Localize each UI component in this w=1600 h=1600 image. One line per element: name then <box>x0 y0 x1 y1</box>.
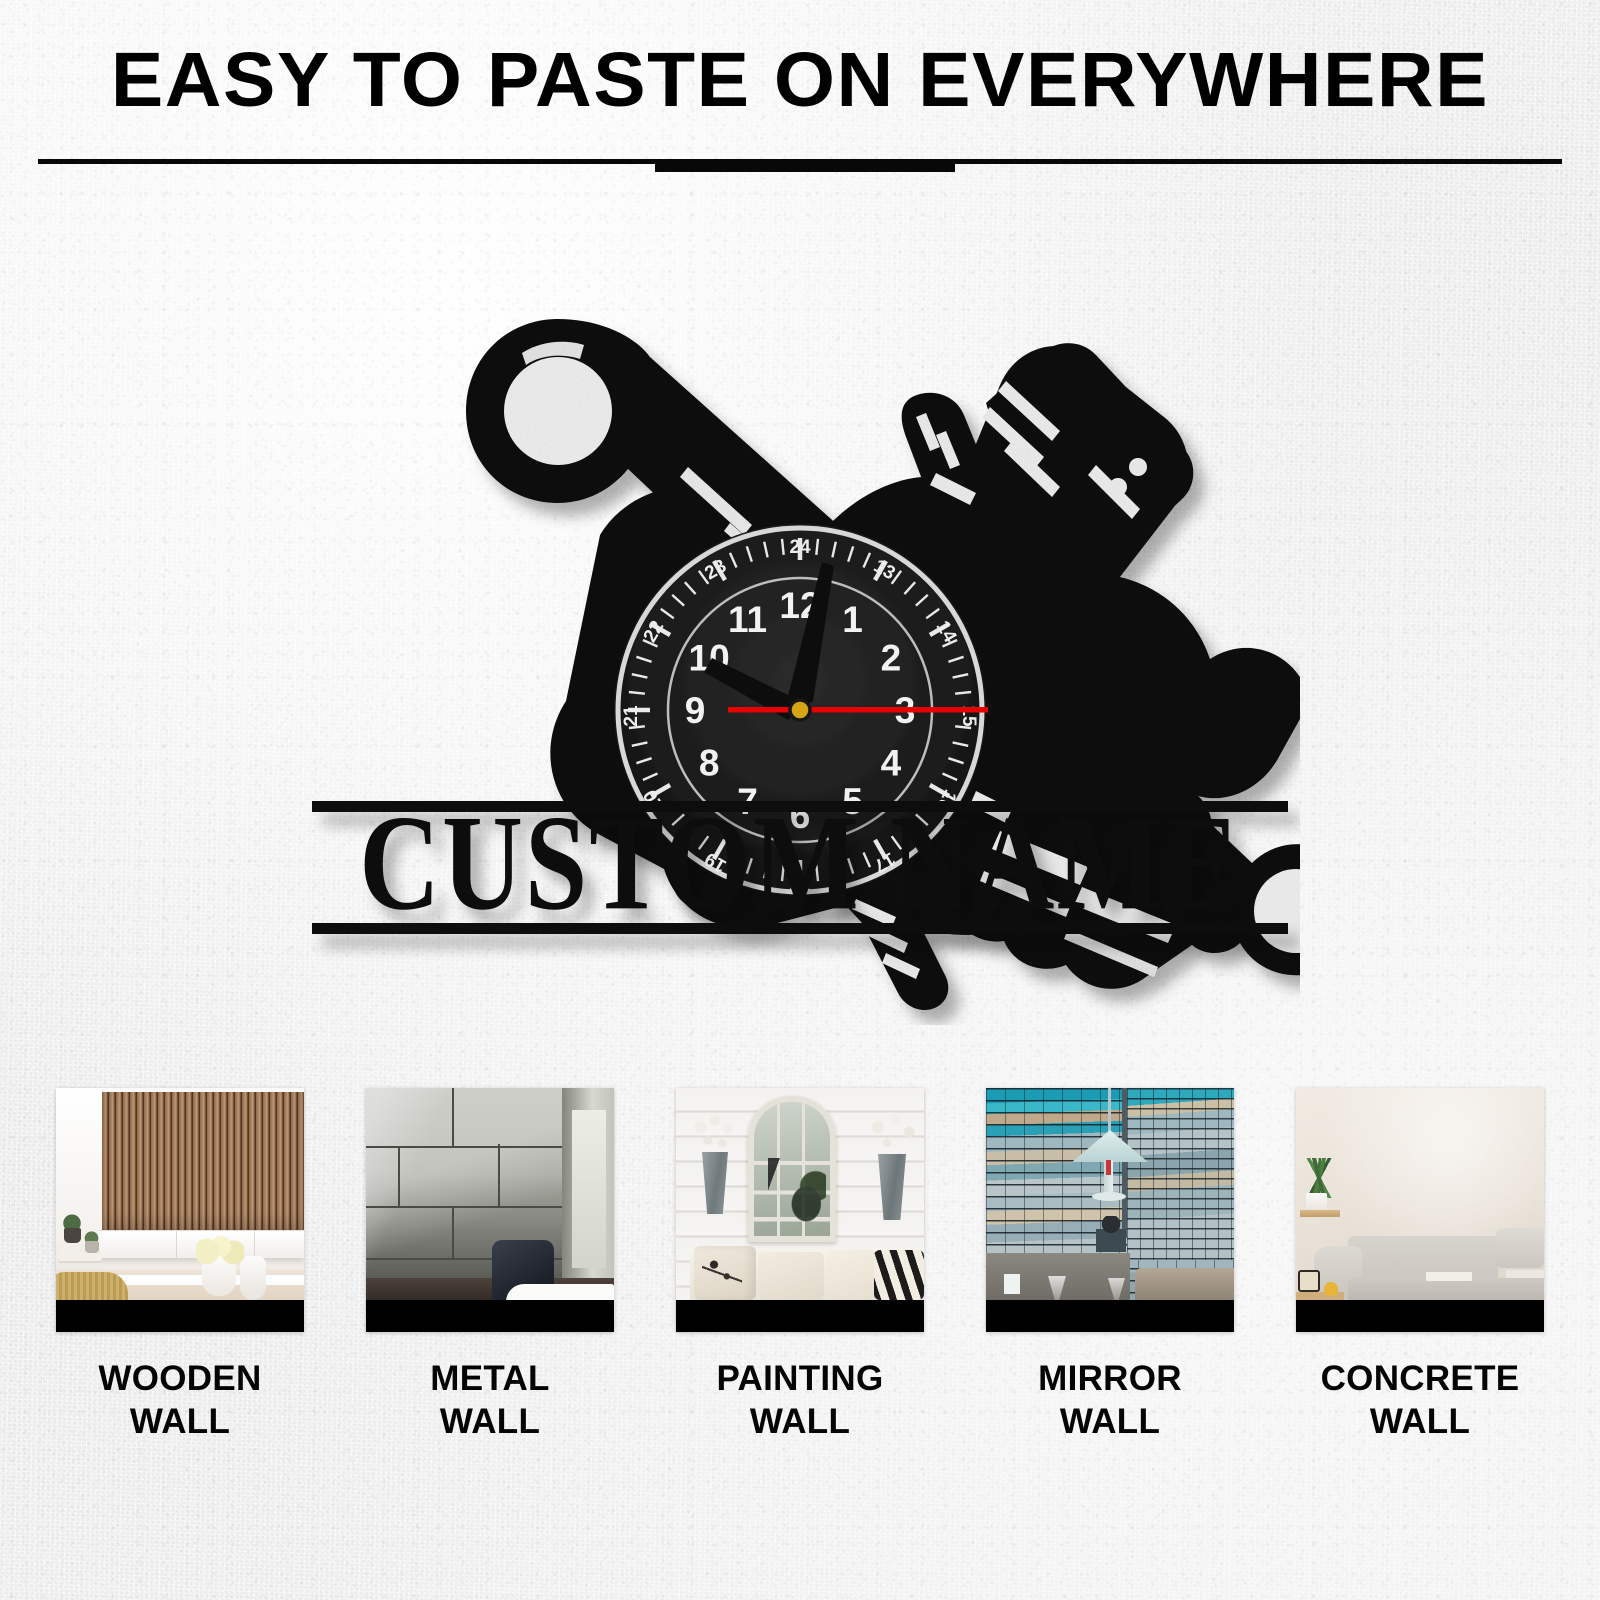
custom-name-text: CUSTOM NAME <box>359 788 1241 939</box>
surface-label-painting-wall: PAINTING WALL <box>716 1358 883 1443</box>
thumbnail-base-strip <box>366 1300 614 1332</box>
surface-label-line2: WALL <box>98 1401 261 1444</box>
clock-numeral-1: 1 <box>842 599 863 640</box>
thumbnail-image-mirror-wall <box>986 1088 1234 1300</box>
thumbnail-frame-wooden-wall[interactable] <box>56 1088 304 1332</box>
surface-types-row: WOODEN WALL METAL WALL <box>0 1088 1600 1443</box>
divider-accent-bar <box>655 159 955 172</box>
surface-item-mirror-wall[interactable]: MIRROR WALL <box>986 1088 1234 1443</box>
surface-label-mirror-wall: MIRROR WALL <box>1038 1358 1182 1443</box>
surface-label-line2: WALL <box>1038 1401 1182 1444</box>
clock-24h-numeral-21: 21 <box>621 705 642 727</box>
surface-label-line2: WALL <box>716 1401 883 1444</box>
thumbnail-frame-concrete-wall[interactable] <box>1296 1088 1544 1332</box>
thumbnail-frame-mirror-wall[interactable] <box>986 1088 1234 1332</box>
surface-label-wooden-wall: WOODEN WALL <box>98 1358 261 1443</box>
thumbnail-base-strip <box>56 1300 304 1332</box>
surface-label-line1: PAINTING <box>716 1358 883 1401</box>
clock-24h-numeral-24: 24 <box>789 537 811 558</box>
metal-wall-art-silhouette: 123456789101112 131415161718192021222324… <box>300 235 1300 1025</box>
header-divider <box>0 153 1600 171</box>
thumbnail-base-strip <box>676 1300 924 1332</box>
clock-numeral-9: 9 <box>685 690 706 731</box>
surface-label-line1: MIRROR <box>1038 1358 1182 1401</box>
thumbnail-image-wooden-wall <box>56 1088 304 1300</box>
thumbnail-base-strip <box>986 1300 1234 1332</box>
thumbnail-frame-metal-wall[interactable] <box>366 1088 614 1332</box>
page-title: EASY TO PASTE ON EVERYWHERE <box>0 0 1600 119</box>
clock-second-hand <box>728 707 988 713</box>
surface-item-painting-wall[interactable]: PAINTING WALL <box>676 1088 924 1443</box>
thumbnail-base-strip <box>1296 1300 1544 1332</box>
surface-label-line1: WOODEN <box>98 1358 261 1401</box>
clock-numeral-8: 8 <box>699 743 720 784</box>
surface-label-metal-wall: METAL WALL <box>430 1358 549 1443</box>
surface-label-line2: WALL <box>430 1401 549 1444</box>
surface-label-line1: METAL <box>430 1358 549 1401</box>
thumbnail-image-metal-wall <box>366 1088 614 1300</box>
thumbnail-image-painting-wall <box>676 1088 924 1300</box>
clock-numeral-2: 2 <box>881 638 902 679</box>
clock-numeral-4: 4 <box>881 743 902 784</box>
surface-label-line1: CONCRETE <box>1321 1358 1520 1401</box>
surface-item-wooden-wall[interactable]: WOODEN WALL <box>56 1088 304 1443</box>
hero-product-image: 123456789101112 131415161718192021222324… <box>0 235 1600 1035</box>
thumbnail-image-concrete-wall <box>1296 1088 1544 1300</box>
custom-name-plate: CUSTOM NAME <box>312 788 1288 939</box>
thumbnail-frame-painting-wall[interactable] <box>676 1088 924 1332</box>
surface-label-concrete-wall: CONCRETE WALL <box>1321 1358 1520 1443</box>
header: EASY TO PASTE ON EVERYWHERE <box>0 0 1600 171</box>
surface-label-line2: WALL <box>1321 1401 1520 1444</box>
surface-item-concrete-wall[interactable]: CONCRETE WALL <box>1296 1088 1544 1443</box>
clock-center-pin <box>790 700 810 720</box>
surface-item-metal-wall[interactable]: METAL WALL <box>366 1088 614 1443</box>
clock-numeral-11: 11 <box>728 599 767 640</box>
